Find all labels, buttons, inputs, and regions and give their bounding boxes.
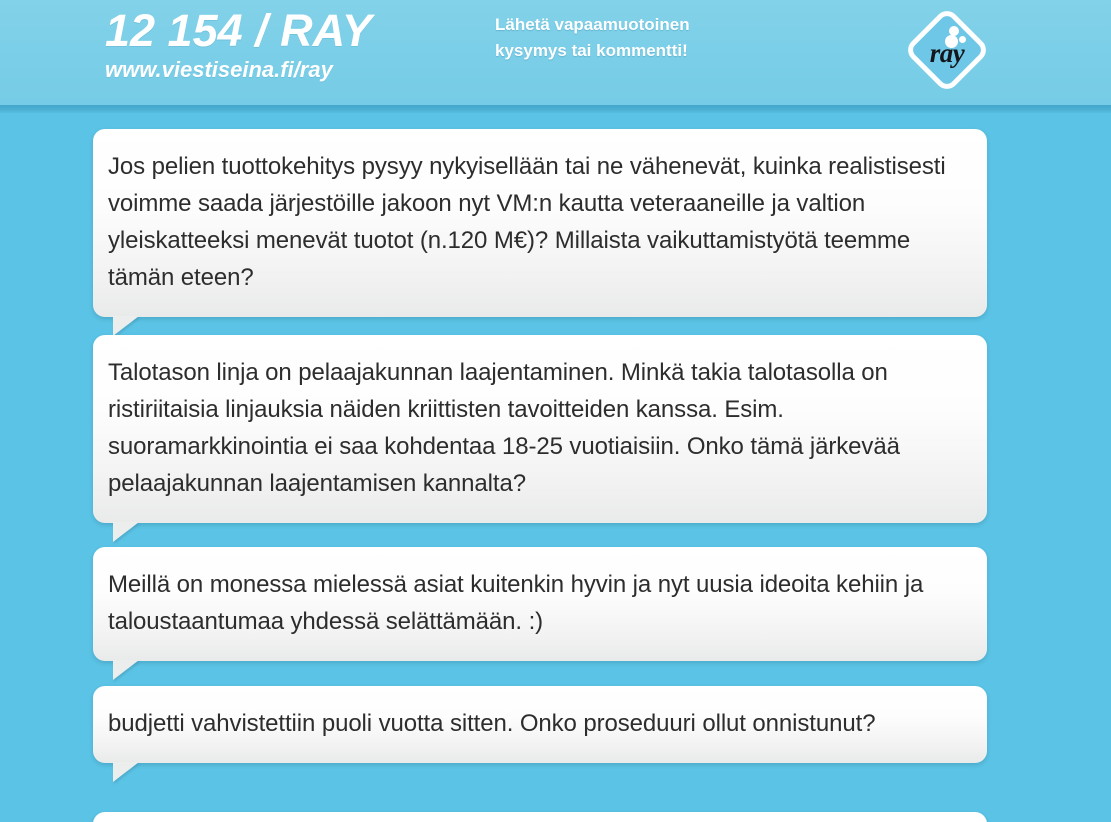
bubble-tail (113, 660, 139, 680)
message-bubble[interactable]: budjetti vahvistettiin puoli vuotta sitt… (93, 686, 987, 763)
instruction-line-2: kysymys tai kommentti! (495, 38, 690, 64)
message-text: Meillä on monessa mielessä asiat kuitenk… (108, 566, 963, 640)
logo-wordmark: ray (903, 6, 991, 94)
message-item[interactable]: Talotason linja on pelaajakunnan laajent… (93, 335, 987, 523)
bubble-tail (113, 762, 139, 782)
message-item[interactable]: Jos pelien tuottokehitys pysyy nykyisell… (93, 129, 987, 317)
bubble-tail (113, 522, 139, 542)
header-separator (0, 105, 1111, 113)
page-header: 12 154 / RAY www.viestiseina.fi/ray Lähe… (0, 0, 1111, 105)
message-text: Jos pelien tuottokehitys pysyy nykyisell… (108, 148, 963, 296)
message-item[interactable] (93, 812, 987, 822)
instruction-line-1: Lähetä vapaamuotoinen (495, 12, 690, 38)
message-bubble[interactable]: Meillä on monessa mielessä asiat kuitenk… (93, 547, 987, 661)
page-title: 12 154 / RAY (105, 8, 372, 53)
message-bubble[interactable]: Jos pelien tuottokehitys pysyy nykyisell… (93, 129, 987, 317)
message-bubble[interactable]: Talotason linja on pelaajakunnan laajent… (93, 335, 987, 523)
brand-block: 12 154 / RAY www.viestiseina.fi/ray (105, 8, 372, 81)
message-item[interactable]: budjetti vahvistettiin puoli vuotta sitt… (93, 686, 987, 763)
wall-url: www.viestiseina.fi/ray (105, 59, 372, 81)
message-text: budjetti vahvistettiin puoli vuotta sitt… (108, 705, 963, 742)
ray-logo: ray (903, 6, 991, 94)
instruction-text: Lähetä vapaamuotoinen kysymys tai kommen… (495, 12, 690, 64)
message-item[interactable]: Meillä on monessa mielessä asiat kuitenk… (93, 547, 987, 661)
message-bubble[interactable] (93, 812, 987, 822)
message-wall-page: viestiseina.fi 12 154 / RAY www.viestise… (0, 0, 1111, 822)
bubble-tail (113, 316, 139, 336)
message-feed: Jos pelien tuottokehitys pysyy nykyisell… (0, 113, 1111, 822)
message-text: Talotason linja on pelaajakunnan laajent… (108, 354, 963, 502)
